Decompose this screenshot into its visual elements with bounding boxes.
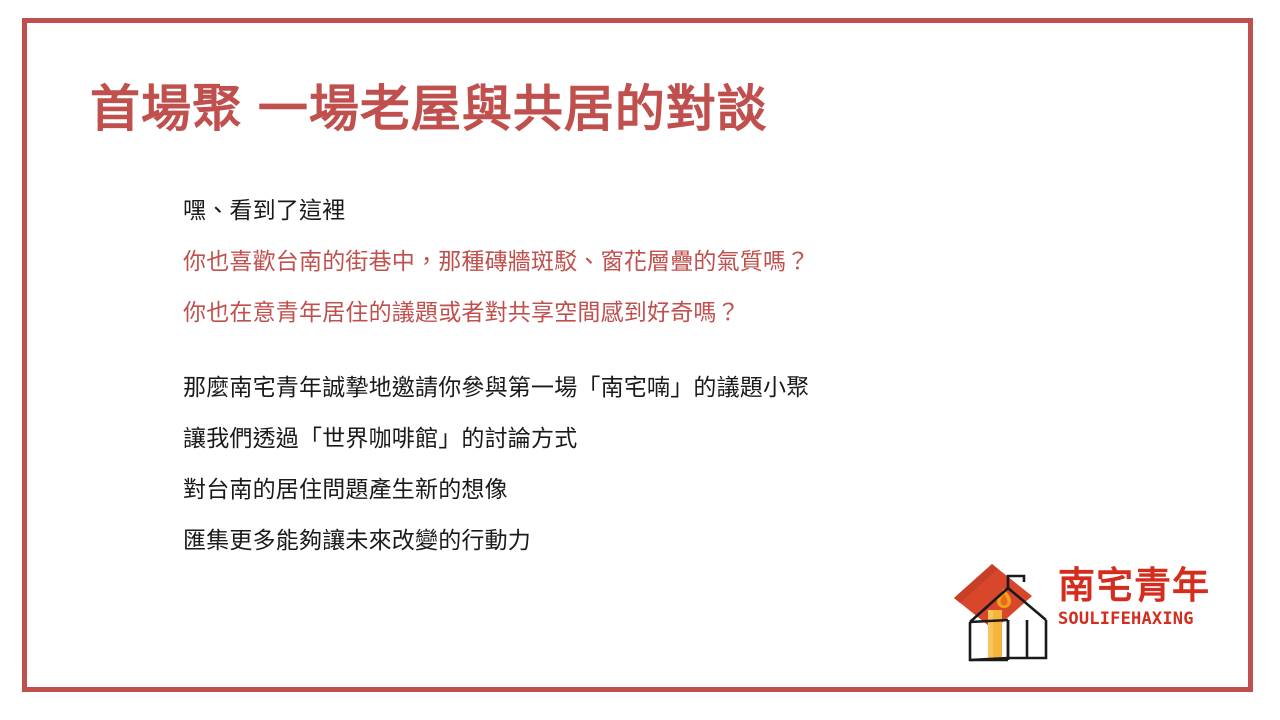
body-line: 匯集更多能夠讓未來改變的行動力 <box>183 526 1143 554</box>
page-title: 首場聚 一場老屋與共居的對談 <box>90 78 768 140</box>
slide-canvas: 首場聚 一場老屋與共居的對談 嘿、看到了這裡 你也喜歡台南的街巷中，那種磚牆斑駁… <box>0 0 1280 720</box>
paragraph-group-invitation: 那麼南宅青年誠摯地邀請你參與第一場「南宅喃」的議題小聚 讓我們透過「世界咖啡館」… <box>183 373 1143 554</box>
body-line: 你也喜歡台南的街巷中，那種磚牆斑駁、窗花層疊的氣質嗎？ <box>183 247 1143 275</box>
body-line: 讓我們透過「世界咖啡館」的討論方式 <box>183 424 1143 452</box>
body-line: 那麼南宅青年誠摯地邀請你參與第一場「南宅喃」的議題小聚 <box>183 373 1143 401</box>
body-line: 對台南的居住問題產生新的想像 <box>183 475 1143 503</box>
logo-wordmark: 南宅青年 SOULIFEHAXING <box>1058 566 1218 629</box>
brand-logo: 南宅青年 SOULIFEHAXING <box>946 558 1218 670</box>
logo-chinese-name: 南宅青年 <box>1058 566 1218 606</box>
logo-english-name: SOULIFEHAXING <box>1058 610 1218 629</box>
body-content: 嘿、看到了這裡 你也喜歡台南的街巷中，那種磚牆斑駁、窗花層疊的氣質嗎？ 你也在意… <box>183 196 1143 554</box>
house-with-candle-icon <box>946 558 1058 668</box>
paragraph-group-intro: 嘿、看到了這裡 你也喜歡台南的街巷中，那種磚牆斑駁、窗花層疊的氣質嗎？ 你也在意… <box>183 196 1143 326</box>
body-line: 你也在意青年居住的議題或者對共享空間感到好奇嗎？ <box>183 298 1143 326</box>
body-line: 嘿、看到了這裡 <box>183 196 1143 224</box>
